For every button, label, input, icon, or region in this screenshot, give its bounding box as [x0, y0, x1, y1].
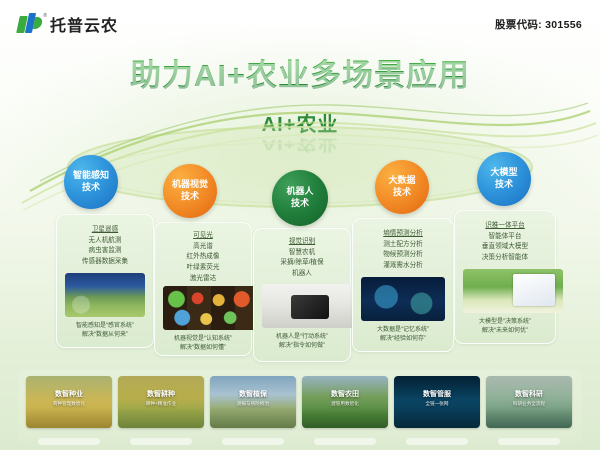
caption-line: 机器人是“行动系统”: [254, 333, 350, 342]
scene-subtitle: 建管用数智化: [302, 401, 388, 407]
tech-card-caption: 智能感知是“感官系统” 解决“数据从何来”: [57, 322, 153, 340]
tech-card-feature-list: 视觉识别 智慧农机 采摘/除草/植保 机器人: [254, 237, 350, 280]
caption-line: 解决“未来如何优”: [455, 327, 555, 336]
feature-item: 高光谱: [155, 242, 251, 253]
scene-title: 数智农田: [302, 389, 388, 399]
caption-line: 解决“数据如何懂”: [155, 344, 251, 353]
circle-label-line2: 技术: [291, 198, 309, 210]
scene-subtitle: 测报与统防统治: [210, 401, 296, 407]
feature-item: 无人机航测: [57, 236, 153, 247]
tech-card-caption: 大模型是“决策系统” 解决“未来如何优”: [455, 318, 555, 336]
feature-item: 红外热成像: [155, 252, 251, 263]
tech-card-large-model[interactable]: 识推一体平台 智能体平台 垂直领域大模型 决策分析智能体 大模型是“决策系统” …: [454, 210, 556, 344]
tech-card-machine-vision[interactable]: 可见光 高光谱 红外热成像 叶绿素荧光 激光雷达 机器视觉是“认知系统” 解决“…: [154, 222, 252, 356]
circle-big-data[interactable]: 大数据 技术: [375, 160, 429, 214]
page-header: ® 托普云农 股票代码: 301556: [0, 0, 600, 45]
caption-line: 大模型是“决策系统”: [455, 318, 555, 327]
feature-item: 物候预测分析: [353, 250, 453, 261]
feature-item: 墒情预测分析: [353, 229, 453, 240]
tech-card-intelligent-sensing[interactable]: 卫星遥感 无人机航测 病虫害监测 传感器数据采集 智能感知是“感官系统” 解决“…: [56, 214, 154, 348]
scene-title: 数智种业: [26, 389, 112, 399]
circle-intelligent-sensing[interactable]: 智能感知 技术: [64, 155, 118, 209]
scene-tile-plant-protection[interactable]: 数智植保 测报与统防统治: [210, 376, 296, 428]
scene-subtitle: 全链一张网: [394, 401, 480, 407]
scene-subtitle: 耕种+精准作业: [118, 401, 204, 407]
feature-item: 机器人: [254, 269, 350, 280]
circle-label-line1: 智能感知: [73, 170, 109, 182]
tech-card-big-data[interactable]: 墒情预测分析 测土配方分析 物候预测分析 灌溉需水分析 大数据是“记忆系统” 解…: [352, 218, 454, 352]
feature-item: 智能体平台: [455, 232, 555, 243]
caption-line: 机器视觉是“认知系统”: [155, 335, 251, 344]
tech-card-caption: 大数据是“记忆系统” 解决“经验如何存”: [353, 326, 453, 344]
feature-item: 智慧农机: [254, 248, 350, 259]
circle-label-line1: 机器人: [286, 186, 313, 198]
caption-line: 解决“数据从何来”: [57, 331, 153, 340]
circle-large-model[interactable]: 大模型 技术: [477, 152, 531, 206]
scene-tile-shadow: [314, 438, 376, 445]
scene-tile-shadow: [130, 438, 192, 445]
caption-line: 解决“指令如何做”: [254, 342, 350, 351]
caption-line: 解决“经验如何存”: [353, 335, 453, 344]
page-title: 助力AI+农业多场景应用: [0, 50, 600, 95]
feature-item: 垂直领域大模型: [455, 242, 555, 253]
feature-item: 视觉识别: [254, 237, 350, 248]
poster-canvas: ® 托普云农 股票代码: 301556 助力AI+农业多场景应用 AI+农业 A…: [0, 0, 600, 450]
scene-subtitle: 科研业务全流程: [486, 401, 572, 407]
brand-logo[interactable]: ® 托普云农: [18, 12, 118, 36]
tablet-in-field-thumbnail: [463, 269, 563, 313]
feature-item: 采摘/除草/植保: [254, 258, 350, 269]
circle-label-line1: 大数据: [388, 175, 415, 187]
scene-tile-farmland[interactable]: 数智农田 建管用数智化: [302, 376, 388, 428]
scene-subtitle: 育种管理数智化: [26, 401, 112, 407]
caption-line: 智能感知是“感官系统”: [57, 322, 153, 331]
tech-card-feature-list: 墒情预测分析 测土配方分析 物候预测分析 灌溉需水分析: [353, 229, 453, 272]
caption-line: 大数据是“记忆系统”: [353, 326, 453, 335]
scene-tile-farming[interactable]: 数智耕种 耕种+精准作业: [118, 376, 204, 428]
circle-label-line2: 技术: [181, 191, 199, 203]
scene-tile-shadow: [406, 438, 468, 445]
circle-robotics[interactable]: 机器人 技术: [272, 170, 328, 226]
scene-title: 数智耕种: [118, 389, 204, 399]
farm-satellite-thumbnail: [65, 273, 145, 317]
tp-logo-icon: ®: [18, 13, 44, 35]
data-dashboard-thumbnail: [361, 277, 445, 321]
scene-tile-research[interactable]: 数智科研 科研业务全流程: [486, 376, 572, 428]
feature-item: 灌溉需水分析: [353, 261, 453, 272]
registered-mark-icon: ®: [43, 13, 47, 19]
tech-card-feature-list: 可见光 高光谱 红外热成像 叶绿素荧光 激光雷达: [155, 231, 251, 284]
circle-label-line1: 大模型: [490, 167, 517, 179]
stock-code: 股票代码: 301556: [495, 17, 582, 32]
feature-item: 激光雷达: [155, 274, 251, 285]
tech-card-feature-list: 识推一体平台 智能体平台 垂直领域大模型 决策分析智能体: [455, 221, 555, 264]
scene-tile-shadow: [498, 438, 560, 445]
circle-label-line2: 技术: [82, 182, 100, 194]
tech-card-caption: 机器视觉是“认知系统” 解决“数据如何懂”: [155, 335, 251, 353]
scene-tile-seed-industry[interactable]: 数智种业 育种管理数智化: [26, 376, 112, 428]
circle-label-line1: 机器视觉: [172, 179, 208, 191]
multispectral-image-grid-thumbnail: [163, 286, 259, 330]
scene-title: 数智管服: [394, 389, 480, 399]
feature-item: 可见光: [155, 231, 251, 242]
page-subtitle: AI+农业: [0, 108, 600, 137]
scene-tile-management-service[interactable]: 数智管服 全链一张网: [394, 376, 480, 428]
tech-card-caption: 机器人是“行动系统” 解决“指令如何做”: [254, 333, 350, 351]
robot-dog-thumbnail: [262, 284, 358, 328]
feature-item: 决策分析智能体: [455, 253, 555, 264]
scene-tile-shadow: [222, 438, 284, 445]
brand-name: 托普云农: [50, 12, 118, 36]
feature-item: 叶绿素荧光: [155, 263, 251, 274]
feature-item: 病虫害监测: [57, 246, 153, 257]
circle-label-line2: 技术: [495, 179, 513, 191]
scene-title: 数智植保: [210, 389, 296, 399]
tech-card-robotics[interactable]: 视觉识别 智慧农机 采摘/除草/植保 机器人 机器人是“行动系统” 解决“指令如…: [253, 228, 351, 362]
scene-tile-shadow: [38, 438, 100, 445]
tech-card-feature-list: 卫星遥感 无人机航测 病虫害监测 传感器数据采集: [57, 225, 153, 268]
feature-item: 识推一体平台: [455, 221, 555, 232]
circle-machine-vision[interactable]: 机器视觉 技术: [163, 164, 217, 218]
feature-item: 传感器数据采集: [57, 257, 153, 268]
circle-label-line2: 技术: [393, 187, 411, 199]
feature-item: 卫星遥感: [57, 225, 153, 236]
scene-title: 数智科研: [486, 389, 572, 399]
feature-item: 测土配方分析: [353, 240, 453, 251]
scene-strip: 数智种业 育种管理数智化 数智耕种 耕种+精准作业 数智植保 测报与统防统治 数…: [18, 370, 582, 442]
